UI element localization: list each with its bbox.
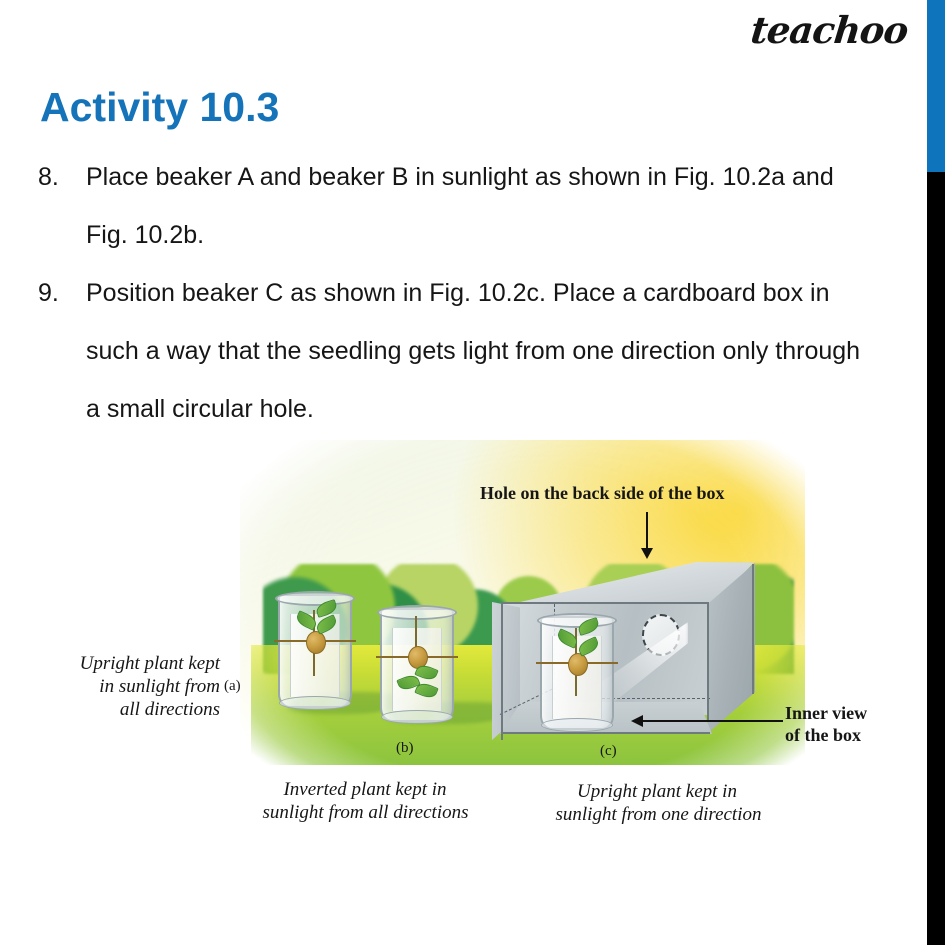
box-edge-left bbox=[501, 602, 503, 740]
teachoo-logo: teachoo bbox=[748, 8, 909, 52]
beaker-c-rim bbox=[537, 613, 617, 628]
caption-a-line3: all directions bbox=[30, 698, 220, 721]
beaker-a-base bbox=[279, 696, 351, 710]
box-edge-outer-right bbox=[752, 564, 754, 694]
beaker-a-seed bbox=[306, 631, 326, 654]
caption-c-line1: Upright plant kept in bbox=[522, 780, 792, 803]
beaker-a-rim bbox=[275, 591, 355, 606]
list-item-number: 9. bbox=[38, 264, 86, 322]
list-item: 9. Position beaker C as shown in Fig. 10… bbox=[38, 264, 868, 438]
beaker-a bbox=[278, 594, 352, 708]
beaker-b bbox=[380, 608, 454, 722]
box-edge-bottom bbox=[501, 732, 710, 734]
caption-b-line2: sunlight from all directions bbox=[218, 801, 513, 824]
callout-hole-arrow bbox=[646, 512, 648, 550]
page-title: Activity 10.3 bbox=[40, 84, 279, 131]
caption-b-line1: Inverted plant kept in bbox=[230, 778, 500, 801]
caption-a-line1: Upright plant kept bbox=[30, 652, 220, 675]
callout-inner-view-line1: Inner view bbox=[785, 702, 867, 724]
panel-label-c: (c) bbox=[600, 743, 617, 760]
cardboard-box bbox=[492, 562, 754, 738]
list-item-text: Place beaker A and beaker B in sunlight … bbox=[86, 148, 868, 264]
panel-label-a: (a) bbox=[224, 678, 241, 695]
beaker-c-base bbox=[541, 718, 613, 732]
list-item: 8. Place beaker A and beaker B in sunlig… bbox=[38, 148, 868, 264]
beaker-c-seed bbox=[568, 653, 588, 676]
figure-10-2: Hole on the back side of the box Inner v… bbox=[30, 440, 890, 840]
box-edge-right bbox=[707, 602, 709, 722]
beaker-c bbox=[540, 616, 614, 730]
callout-hole-label: Hole on the back side of the box bbox=[480, 482, 725, 504]
panel-label-b: (b) bbox=[396, 740, 414, 757]
right-edge-black-bar bbox=[927, 172, 945, 945]
caption-a-line2: in sunlight from bbox=[30, 675, 220, 698]
box-edge-top-front bbox=[502, 602, 709, 604]
steps-list: 8. Place beaker A and beaker B in sunlig… bbox=[38, 148, 868, 438]
right-edge-blue-bar bbox=[927, 0, 945, 172]
caption-c-line2: sunlight from one direction bbox=[516, 803, 801, 826]
callout-inner-view-arrow bbox=[643, 720, 783, 722]
beaker-b-base bbox=[381, 710, 453, 724]
list-item-number: 8. bbox=[38, 148, 86, 206]
list-item-text: Position beaker C as shown in Fig. 10.2c… bbox=[86, 264, 868, 438]
callout-inner-view-line2: of the box bbox=[785, 724, 861, 746]
